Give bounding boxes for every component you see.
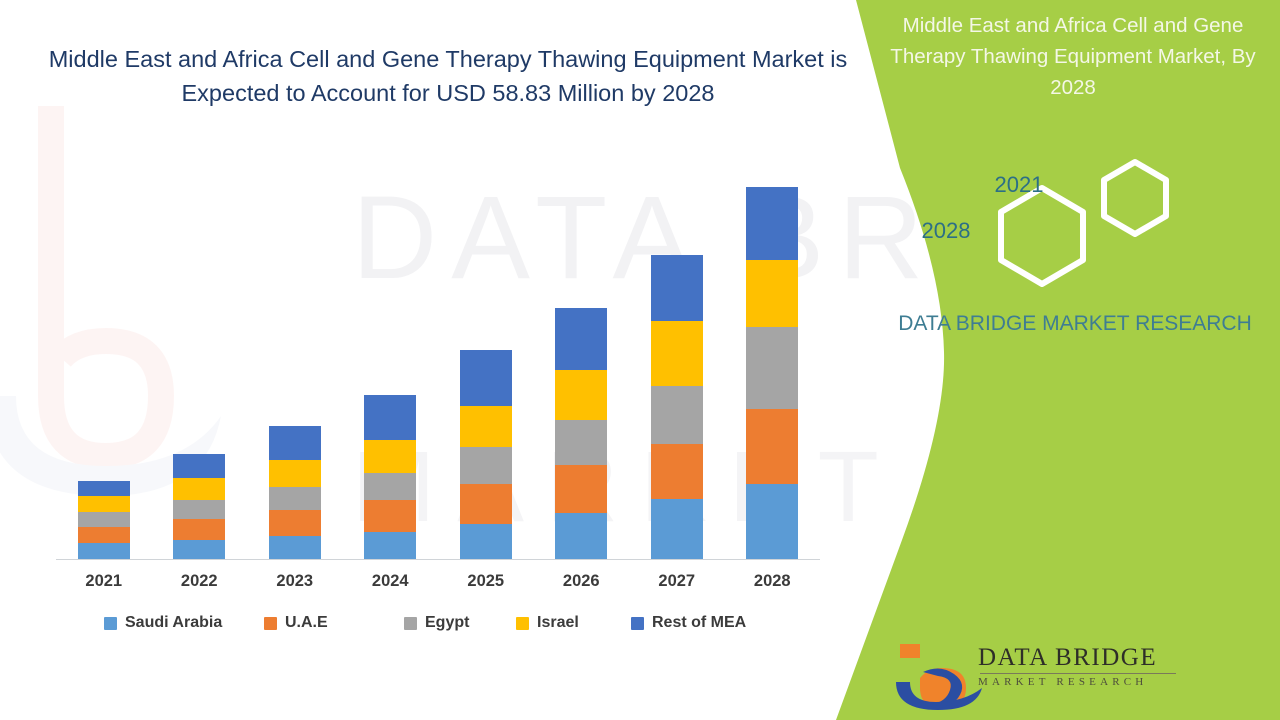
- legend-swatch-icon: [404, 617, 417, 630]
- bar-segment-saudi-arabia-2021[interactable]: [78, 543, 130, 559]
- bar-segment-egypt-2021[interactable]: [78, 512, 130, 527]
- legend-label: Saudi Arabia: [125, 614, 222, 632]
- stacked-bar-chart: [56, 150, 820, 560]
- bar-segment-israel-2028[interactable]: [746, 260, 798, 327]
- logo-main-text: DATA BRIDGE: [978, 644, 1198, 672]
- legend-label: Rest of MEA: [652, 614, 746, 632]
- panel-brand-text: DATA BRIDGE MARKET RESEARCH: [890, 308, 1260, 340]
- legend-item-saudi-arabia[interactable]: Saudi Arabia: [104, 614, 222, 632]
- x-axis-line: [56, 559, 820, 560]
- bar-segment-israel-2026[interactable]: [555, 370, 607, 420]
- bar-segment-u-a-e-2021[interactable]: [78, 527, 130, 543]
- legend-item-egypt[interactable]: Egypt: [404, 614, 469, 632]
- hex-2021-label: 2021: [974, 172, 1064, 198]
- bar-column-2027[interactable]: [651, 255, 703, 559]
- bar-segment-saudi-arabia-2025[interactable]: [460, 524, 512, 559]
- x-axis-tick-labels: 20212022202320242025202620272028: [56, 572, 820, 600]
- bar-segment-egypt-2026[interactable]: [555, 420, 607, 465]
- bar-column-2023[interactable]: [269, 426, 321, 559]
- bar-segment-saudi-arabia-2022[interactable]: [173, 540, 225, 559]
- bar-segment-saudi-arabia-2027[interactable]: [651, 499, 703, 559]
- panel-title: Middle East and Africa Cell and Gene The…: [888, 10, 1258, 103]
- legend-label: Israel: [537, 614, 579, 632]
- x-tick-2027: 2027: [637, 572, 717, 591]
- hex-2021-shape: [1104, 162, 1166, 234]
- bar-column-2022[interactable]: [173, 454, 225, 559]
- bar-segment-israel-2021[interactable]: [78, 496, 130, 512]
- bar-segment-saudi-arabia-2023[interactable]: [269, 536, 321, 559]
- bar-segment-saudi-arabia-2028[interactable]: [746, 484, 798, 559]
- bar-segment-israel-2023[interactable]: [269, 460, 321, 487]
- hex-2028-shape: [1001, 188, 1083, 284]
- x-tick-2024: 2024: [350, 572, 430, 591]
- chart-plot-area: [56, 150, 820, 560]
- x-tick-2023: 2023: [255, 572, 335, 591]
- bar-segment-israel-2022[interactable]: [173, 478, 225, 500]
- bar-column-2028[interactable]: [746, 187, 798, 559]
- legend-item-u-a-e[interactable]: U.A.E: [264, 614, 328, 632]
- bar-segment-rest-of-mea-2027[interactable]: [651, 255, 703, 321]
- bar-segment-u-a-e-2027[interactable]: [651, 444, 703, 499]
- legend-swatch-icon: [516, 617, 529, 630]
- bar-column-2024[interactable]: [364, 395, 416, 559]
- bar-segment-u-a-e-2024[interactable]: [364, 500, 416, 532]
- legend-swatch-icon: [631, 617, 644, 630]
- hexagons-svg: [980, 140, 1200, 290]
- bar-column-2025[interactable]: [460, 350, 512, 559]
- bar-column-2021[interactable]: [78, 481, 130, 559]
- chart-legend: Saudi ArabiaU.A.EEgyptIsraelRest of MEA: [56, 614, 820, 640]
- slide-root: DATA BRIDGE MARKET RESEARCH Middle East …: [0, 0, 1280, 720]
- hex-2028-label: 2028: [896, 218, 996, 244]
- legend-label: U.A.E: [285, 614, 328, 632]
- bar-segment-egypt-2028[interactable]: [746, 327, 798, 409]
- bar-segment-egypt-2027[interactable]: [651, 386, 703, 444]
- x-tick-2021: 2021: [64, 572, 144, 591]
- page-title: Middle East and Africa Cell and Gene The…: [48, 42, 848, 110]
- bar-segment-saudi-arabia-2026[interactable]: [555, 513, 607, 559]
- x-tick-2026: 2026: [541, 572, 621, 591]
- bar-segment-rest-of-mea-2022[interactable]: [173, 454, 225, 478]
- bar-segment-rest-of-mea-2026[interactable]: [555, 308, 607, 370]
- x-tick-2025: 2025: [446, 572, 526, 591]
- bar-segment-israel-2025[interactable]: [460, 406, 512, 447]
- bar-segment-rest-of-mea-2028[interactable]: [746, 187, 798, 260]
- bar-segment-rest-of-mea-2024[interactable]: [364, 395, 416, 440]
- bar-segment-u-a-e-2026[interactable]: [555, 465, 607, 513]
- bar-segment-israel-2027[interactable]: [651, 321, 703, 386]
- x-tick-2022: 2022: [159, 572, 239, 591]
- bar-segment-saudi-arabia-2024[interactable]: [364, 532, 416, 559]
- bar-segment-rest-of-mea-2021[interactable]: [78, 481, 130, 496]
- legend-item-israel[interactable]: Israel: [516, 614, 579, 632]
- panel-content: Middle East and Africa Cell and Gene The…: [880, 0, 1280, 720]
- logo-sub-text: MARKET RESEARCH: [978, 676, 1198, 688]
- legend-label: Egypt: [425, 614, 469, 632]
- bar-segment-egypt-2025[interactable]: [460, 447, 512, 484]
- bar-segment-u-a-e-2023[interactable]: [269, 510, 321, 536]
- bar-column-2026[interactable]: [555, 308, 607, 559]
- bar-segment-u-a-e-2025[interactable]: [460, 484, 512, 524]
- legend-swatch-icon: [104, 617, 117, 630]
- logo-wordmark: DATA BRIDGE MARKET RESEARCH: [978, 644, 1198, 688]
- bar-segment-u-a-e-2022[interactable]: [173, 519, 225, 540]
- x-tick-2028: 2028: [732, 572, 812, 591]
- bar-segment-u-a-e-2028[interactable]: [746, 409, 798, 484]
- legend-swatch-icon: [264, 617, 277, 630]
- bar-segment-egypt-2022[interactable]: [173, 500, 225, 519]
- legend-item-rest-of-mea[interactable]: Rest of MEA: [631, 614, 746, 632]
- bar-segment-israel-2024[interactable]: [364, 440, 416, 473]
- bar-segment-egypt-2024[interactable]: [364, 473, 416, 500]
- logo-divider: [980, 673, 1176, 674]
- hexagon-group: [980, 140, 1200, 290]
- bar-segment-egypt-2023[interactable]: [269, 487, 321, 510]
- bar-segment-rest-of-mea-2023[interactable]: [269, 426, 321, 460]
- bar-segment-rest-of-mea-2025[interactable]: [460, 350, 512, 406]
